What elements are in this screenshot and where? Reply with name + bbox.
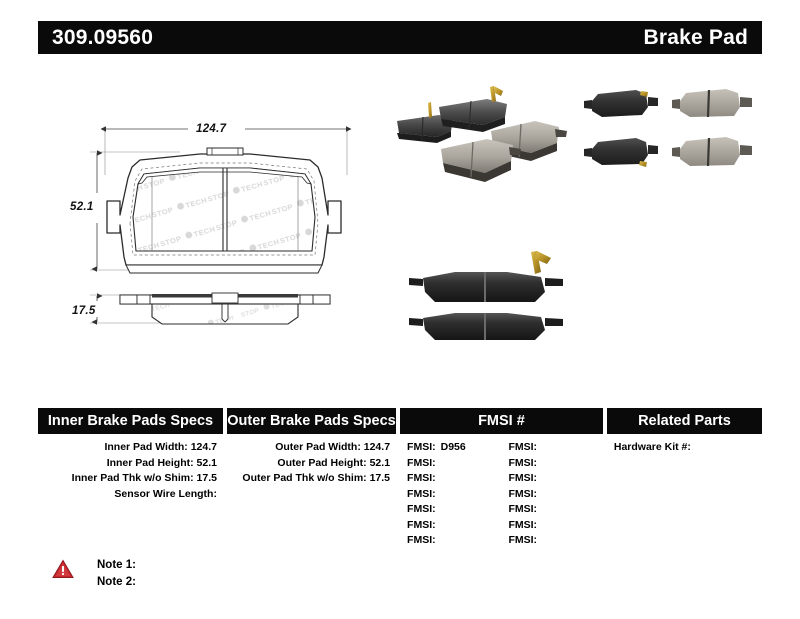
notes-text-block: Note 1: Note 2: bbox=[97, 557, 136, 591]
header-fmsi: FMSI # bbox=[400, 408, 603, 434]
fmsi-column-1: FMSI:D956 FMSI: FMSI: FMSI: FMSI: bbox=[400, 440, 501, 549]
inner-spec-line: Inner Pad Thk w/o Shim: 17.5 bbox=[38, 471, 217, 487]
fmsi-row: FMSI: bbox=[407, 487, 501, 503]
fmsi-key: FMSI: bbox=[407, 534, 436, 546]
fmsi-value bbox=[537, 472, 542, 484]
fmsi-key: FMSI: bbox=[407, 488, 436, 500]
fmsi-row: FMSI: bbox=[508, 502, 602, 518]
fmsi-value bbox=[537, 503, 542, 515]
pad-photo-back-right bbox=[439, 86, 507, 132]
pad-photo-backing-top-left bbox=[584, 90, 658, 117]
fmsi-key: FMSI: bbox=[407, 472, 436, 484]
fmsi-row: FMSI:D956 bbox=[407, 440, 501, 456]
pad-photo-friction-bottom-right bbox=[672, 137, 752, 166]
fmsi-row: FMSI: bbox=[407, 502, 501, 518]
page-title: Brake Pad bbox=[643, 26, 748, 50]
photo-edge-group bbox=[395, 248, 595, 348]
header-inner-specs: Inner Brake Pads Specs bbox=[38, 408, 223, 434]
pad-photo-backing-bottom-left bbox=[584, 138, 658, 167]
pad-outline-drawing: STOP TECH STOP TECH bbox=[60, 105, 390, 355]
fmsi-row: FMSI: bbox=[508, 471, 602, 487]
fmsi-column-2: FMSI: FMSI: FMSI: FMSI: FMSI: bbox=[501, 440, 602, 549]
fmsi-key: FMSI: bbox=[508, 519, 537, 531]
fmsi-value bbox=[436, 503, 441, 515]
fmsi-row: FMSI: bbox=[407, 533, 501, 549]
header-related-parts: Related Parts bbox=[607, 408, 762, 434]
fmsi-row: FMSI: bbox=[407, 518, 501, 534]
header-bar: 309.09560 Brake Pad bbox=[38, 21, 762, 54]
notes-section: Note 1: Note 2: bbox=[52, 557, 136, 591]
fmsi-row: FMSI: bbox=[407, 456, 501, 472]
inner-specs-cell: Inner Pad Width: 124.7 Inner Pad Height:… bbox=[38, 440, 223, 549]
specification-table: Inner Brake Pads Specs Outer Brake Pads … bbox=[38, 408, 762, 549]
fmsi-value bbox=[537, 519, 542, 531]
fmsi-key: FMSI: bbox=[508, 534, 537, 546]
fmsi-key: FMSI: bbox=[508, 457, 537, 469]
fmsi-row: FMSI: bbox=[508, 440, 602, 456]
fmsi-value bbox=[537, 534, 542, 546]
fmsi-value bbox=[436, 534, 441, 546]
fmsi-key: FMSI: bbox=[508, 472, 537, 484]
fmsi-value bbox=[537, 441, 542, 453]
fmsi-value bbox=[436, 519, 441, 531]
fmsi-key: FMSI: bbox=[508, 503, 537, 515]
product-photos bbox=[395, 80, 770, 365]
fmsi-key: FMSI: bbox=[407, 441, 436, 453]
outer-spec-line: Outer Pad Width: 124.7 bbox=[227, 440, 390, 456]
warning-triangle-icon bbox=[52, 559, 74, 579]
fmsi-value bbox=[436, 457, 441, 469]
fmsi-key: FMSI: bbox=[407, 519, 436, 531]
fmsi-row: FMSI: bbox=[508, 456, 602, 472]
inner-spec-line: Inner Pad Height: 52.1 bbox=[38, 456, 217, 472]
pad-photo-front-center bbox=[441, 139, 521, 182]
outer-spec-line: Outer Pad Thk w/o Shim: 17.5 bbox=[227, 471, 390, 487]
fmsi-value bbox=[537, 488, 542, 500]
fmsi-key: FMSI: bbox=[508, 488, 537, 500]
note-1: Note 1: bbox=[97, 557, 136, 574]
spec-table-header-row: Inner Brake Pads Specs Outer Brake Pads … bbox=[38, 408, 762, 434]
fmsi-row: FMSI: bbox=[508, 487, 602, 503]
note-2: Note 2: bbox=[97, 574, 136, 591]
fmsi-row: FMSI: bbox=[407, 471, 501, 487]
pad-photo-friction-top-right bbox=[672, 89, 752, 117]
fmsi-row: FMSI: bbox=[508, 533, 602, 549]
fmsi-key: FMSI: bbox=[407, 503, 436, 515]
photo-grid-group bbox=[580, 85, 765, 185]
fmsi-cell: FMSI:D956 FMSI: FMSI: FMSI: FMSI: bbox=[400, 440, 603, 549]
photo-perspective-group bbox=[395, 85, 585, 185]
related-parts-cell: Hardware Kit #: bbox=[607, 440, 762, 549]
outer-specs-cell: Outer Pad Width: 124.7 Outer Pad Height:… bbox=[227, 440, 396, 549]
part-number: 309.09560 bbox=[52, 26, 153, 50]
fmsi-value bbox=[436, 472, 441, 484]
fmsi-key: FMSI: bbox=[407, 457, 436, 469]
technical-drawing: 124.7 52.1 17.5 STOP TECH STOP TECH bbox=[60, 105, 390, 355]
pad-photo-edge-upper bbox=[409, 251, 563, 302]
fmsi-value bbox=[436, 488, 441, 500]
fmsi-value bbox=[537, 457, 542, 469]
fmsi-key: FMSI: bbox=[508, 441, 537, 453]
outer-spec-line: Outer Pad Height: 52.1 bbox=[227, 456, 390, 472]
inner-spec-line: Sensor Wire Length: bbox=[38, 487, 217, 503]
related-part-line: Hardware Kit #: bbox=[614, 440, 762, 456]
pad-photo-edge-lower bbox=[409, 313, 563, 340]
header-outer-specs: Outer Brake Pads Specs bbox=[227, 408, 396, 434]
fmsi-value: D956 bbox=[436, 441, 466, 453]
fmsi-row: FMSI: bbox=[508, 518, 602, 534]
spec-table-body-row: Inner Pad Width: 124.7 Inner Pad Height:… bbox=[38, 440, 762, 549]
inner-spec-line: Inner Pad Width: 124.7 bbox=[38, 440, 217, 456]
